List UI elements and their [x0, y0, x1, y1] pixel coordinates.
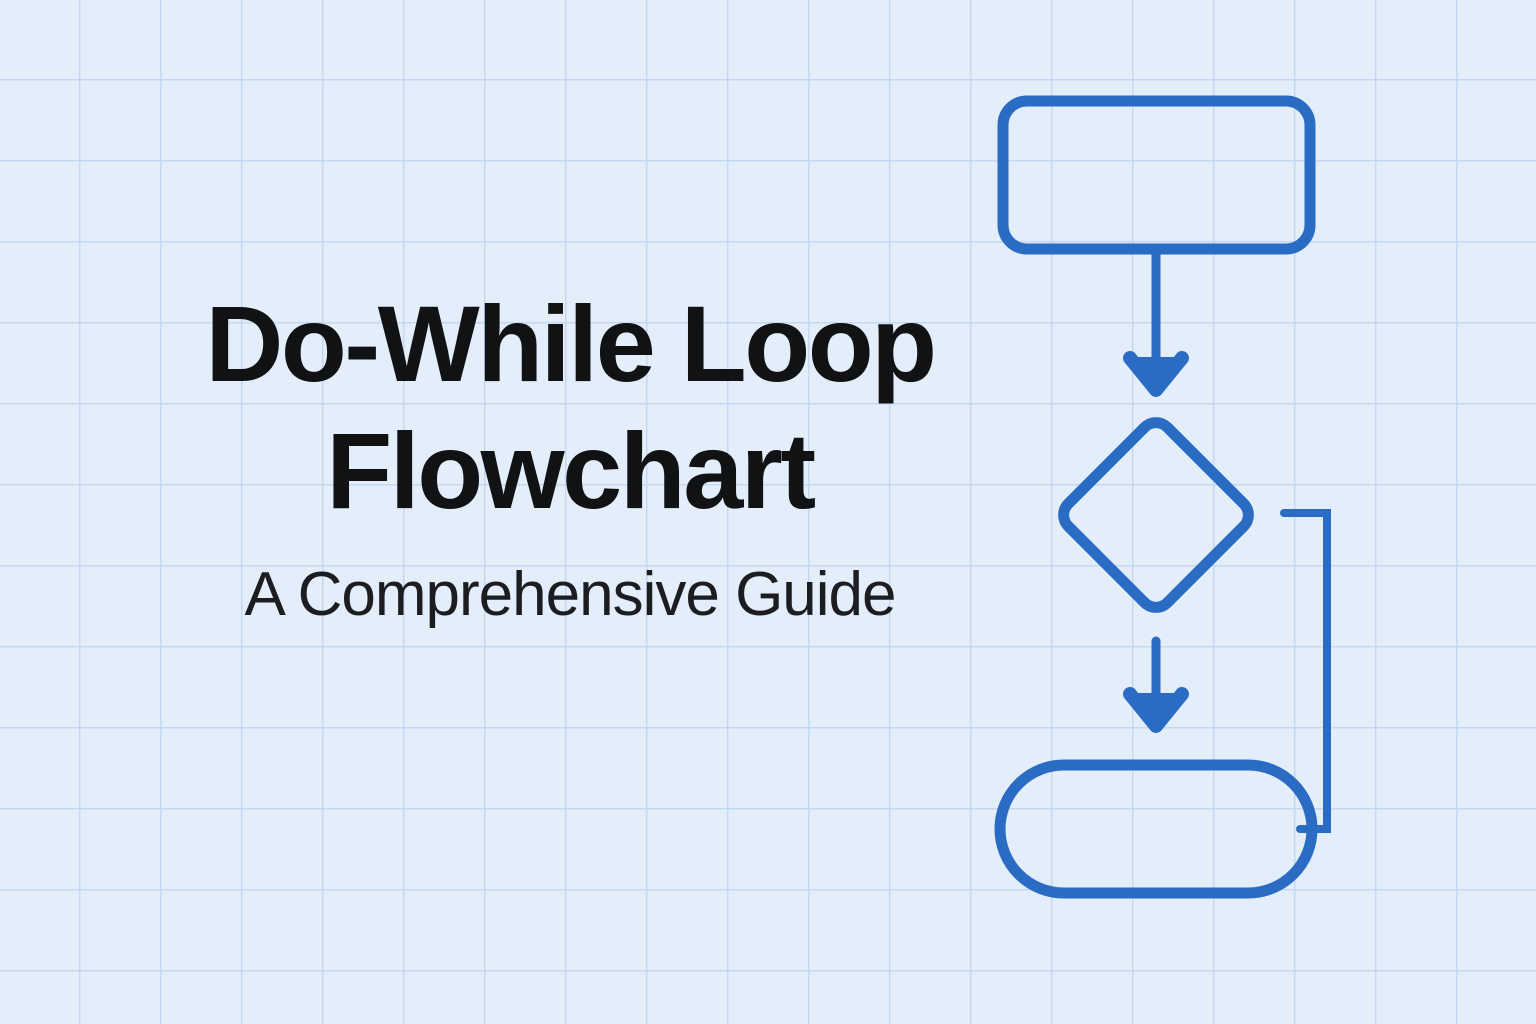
poster-canvas: Do-While Loop Flowchart A Comprehensive … — [0, 0, 1536, 1024]
flowchart-node-decision — [1057, 416, 1255, 614]
flowchart-node-process — [1003, 101, 1310, 249]
flowchart-node-loop-body — [1000, 765, 1312, 893]
connector-process-to-decision — [1130, 249, 1182, 390]
connector-decision-to-body — [1130, 641, 1182, 726]
do-while-loop-flowchart — [0, 0, 1536, 1024]
